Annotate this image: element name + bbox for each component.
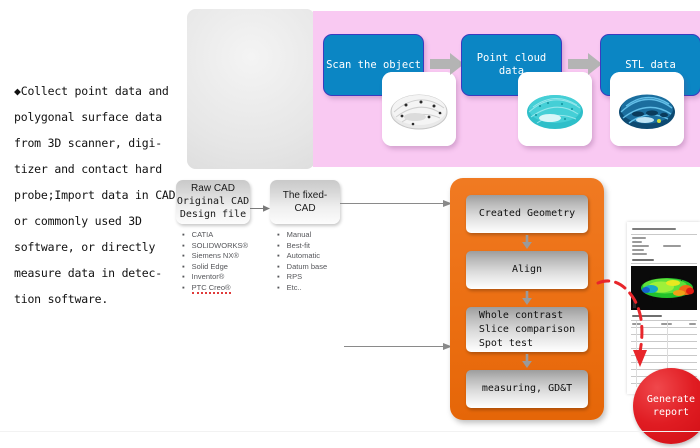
right-arrow-icon (568, 53, 602, 75)
list-item: ▪SOLIDWORKS® (182, 241, 248, 252)
list-item: ▪PTC Creo® (182, 283, 248, 294)
scan-step-label: STL data (625, 59, 676, 72)
description-line: or commonly used 3D (14, 208, 192, 234)
report-title (632, 228, 676, 230)
description-line: probe;Import data in CAD (14, 182, 192, 208)
description-line: software, or directly (14, 234, 192, 260)
process-arrow-3 (522, 353, 533, 367)
raw-cad-line3: Design file (180, 208, 246, 221)
right-arrow-icon (250, 204, 270, 213)
process-step-comparison[interactable]: Whole contrast Slice comparison Spot tes… (466, 307, 588, 352)
list-item: ▪RPS (277, 272, 327, 283)
process-step-measuring[interactable]: measuring, GD&T (466, 370, 588, 408)
raw-cad-line1: Raw CAD (191, 183, 235, 195)
deviation-heatmap (631, 266, 697, 310)
measure-to-process-arrow (344, 336, 452, 345)
cad-alignment-list: ▪Manual ▪Best-fit ▪Automatic ▪Datum base… (277, 230, 327, 294)
down-arrow-icon (522, 235, 533, 249)
process-step-label: Align (512, 263, 542, 277)
list-item: ▪Automatic (277, 251, 327, 262)
process-step-align[interactable]: Align (466, 251, 588, 289)
cad-arrow (250, 198, 270, 207)
blue-stl-mesh-helmet-icon (610, 72, 684, 146)
scan-step-label: Scan the object (326, 59, 421, 72)
list-item: ▪Etc.. (277, 283, 327, 294)
process-arrow-2 (522, 290, 533, 304)
scan-flow-panel: Scan the object Point cloud data (313, 11, 700, 167)
list-item: ▪Datum base (277, 262, 327, 273)
process-step-line: Spot test (479, 337, 575, 351)
list-item: ▪Best-fit (277, 241, 327, 252)
process-step-label: Created Geometry (479, 207, 575, 221)
list-item: ▪CATIA (182, 230, 248, 241)
description-line: tizer and contact hard (14, 156, 192, 182)
generate-report-line1: Generate (647, 393, 695, 406)
process-arrow-1 (522, 234, 533, 248)
scan-step-thumb-3 (610, 72, 684, 146)
raw-cad-line2: Original CAD (177, 195, 249, 208)
process-step-line: Slice comparison (479, 323, 575, 337)
right-arrow-icon (430, 53, 464, 75)
description-line: polygonal surface data (14, 104, 192, 130)
report-section-point-deviation (632, 315, 662, 317)
process-panel: Created Geometry Align Whole contrast Sl… (450, 178, 604, 420)
description-line: measure data in detec- (14, 260, 192, 286)
list-item: ▪Siemens NX® (182, 251, 248, 262)
down-arrow-icon (522, 354, 533, 368)
process-step-line: Whole contrast (479, 309, 575, 323)
scan-step-thumb-2 (518, 72, 592, 146)
list-item: ▪Inventor® (182, 272, 248, 283)
white-helmet-scan-icon (382, 72, 456, 146)
right-arrow-icon (344, 342, 452, 351)
flow-arrow-2 (568, 53, 602, 75)
right-arrow-icon (340, 199, 452, 208)
report-section-result-image (632, 259, 654, 261)
list-item: ▪Solid Edge (182, 262, 248, 273)
cad-software-list: ▪CATIA ▪SOLIDWORKS® ▪Siemens NX® ▪Solid … (182, 230, 248, 294)
description-line: ◆Collect point data and (14, 78, 192, 104)
scanner-photo (187, 9, 315, 169)
down-arrow-icon (522, 291, 533, 305)
description-line: from 3D scanner, digi- (14, 130, 192, 156)
list-item: ▪Manual (277, 230, 327, 241)
cad-to-process-arrow (340, 193, 452, 202)
flow-arrow-1 (430, 53, 464, 75)
bottom-divider (0, 431, 700, 432)
process-step-label: measuring, GD&T (482, 382, 572, 396)
description-text: ◆Collect point data and polygonal surfac… (14, 78, 192, 312)
fixed-cad-line1: The fixed- (283, 189, 327, 202)
raw-cad-box[interactable]: Raw CAD Original CAD Design file (176, 180, 250, 224)
color-deviation-map-icon (631, 266, 697, 310)
cyan-point-cloud-helmet-icon (518, 72, 592, 146)
fixed-cad-line2: CAD (294, 202, 315, 215)
fixed-cad-box[interactable]: The fixed- CAD (270, 180, 340, 224)
process-step-created-geometry[interactable]: Created Geometry (466, 195, 588, 233)
scan-step-thumb-1 (382, 72, 456, 146)
generate-report-line2: report (647, 406, 695, 419)
generate-report-button[interactable]: Generate report (633, 368, 700, 444)
description-line: tion software. (14, 286, 192, 312)
